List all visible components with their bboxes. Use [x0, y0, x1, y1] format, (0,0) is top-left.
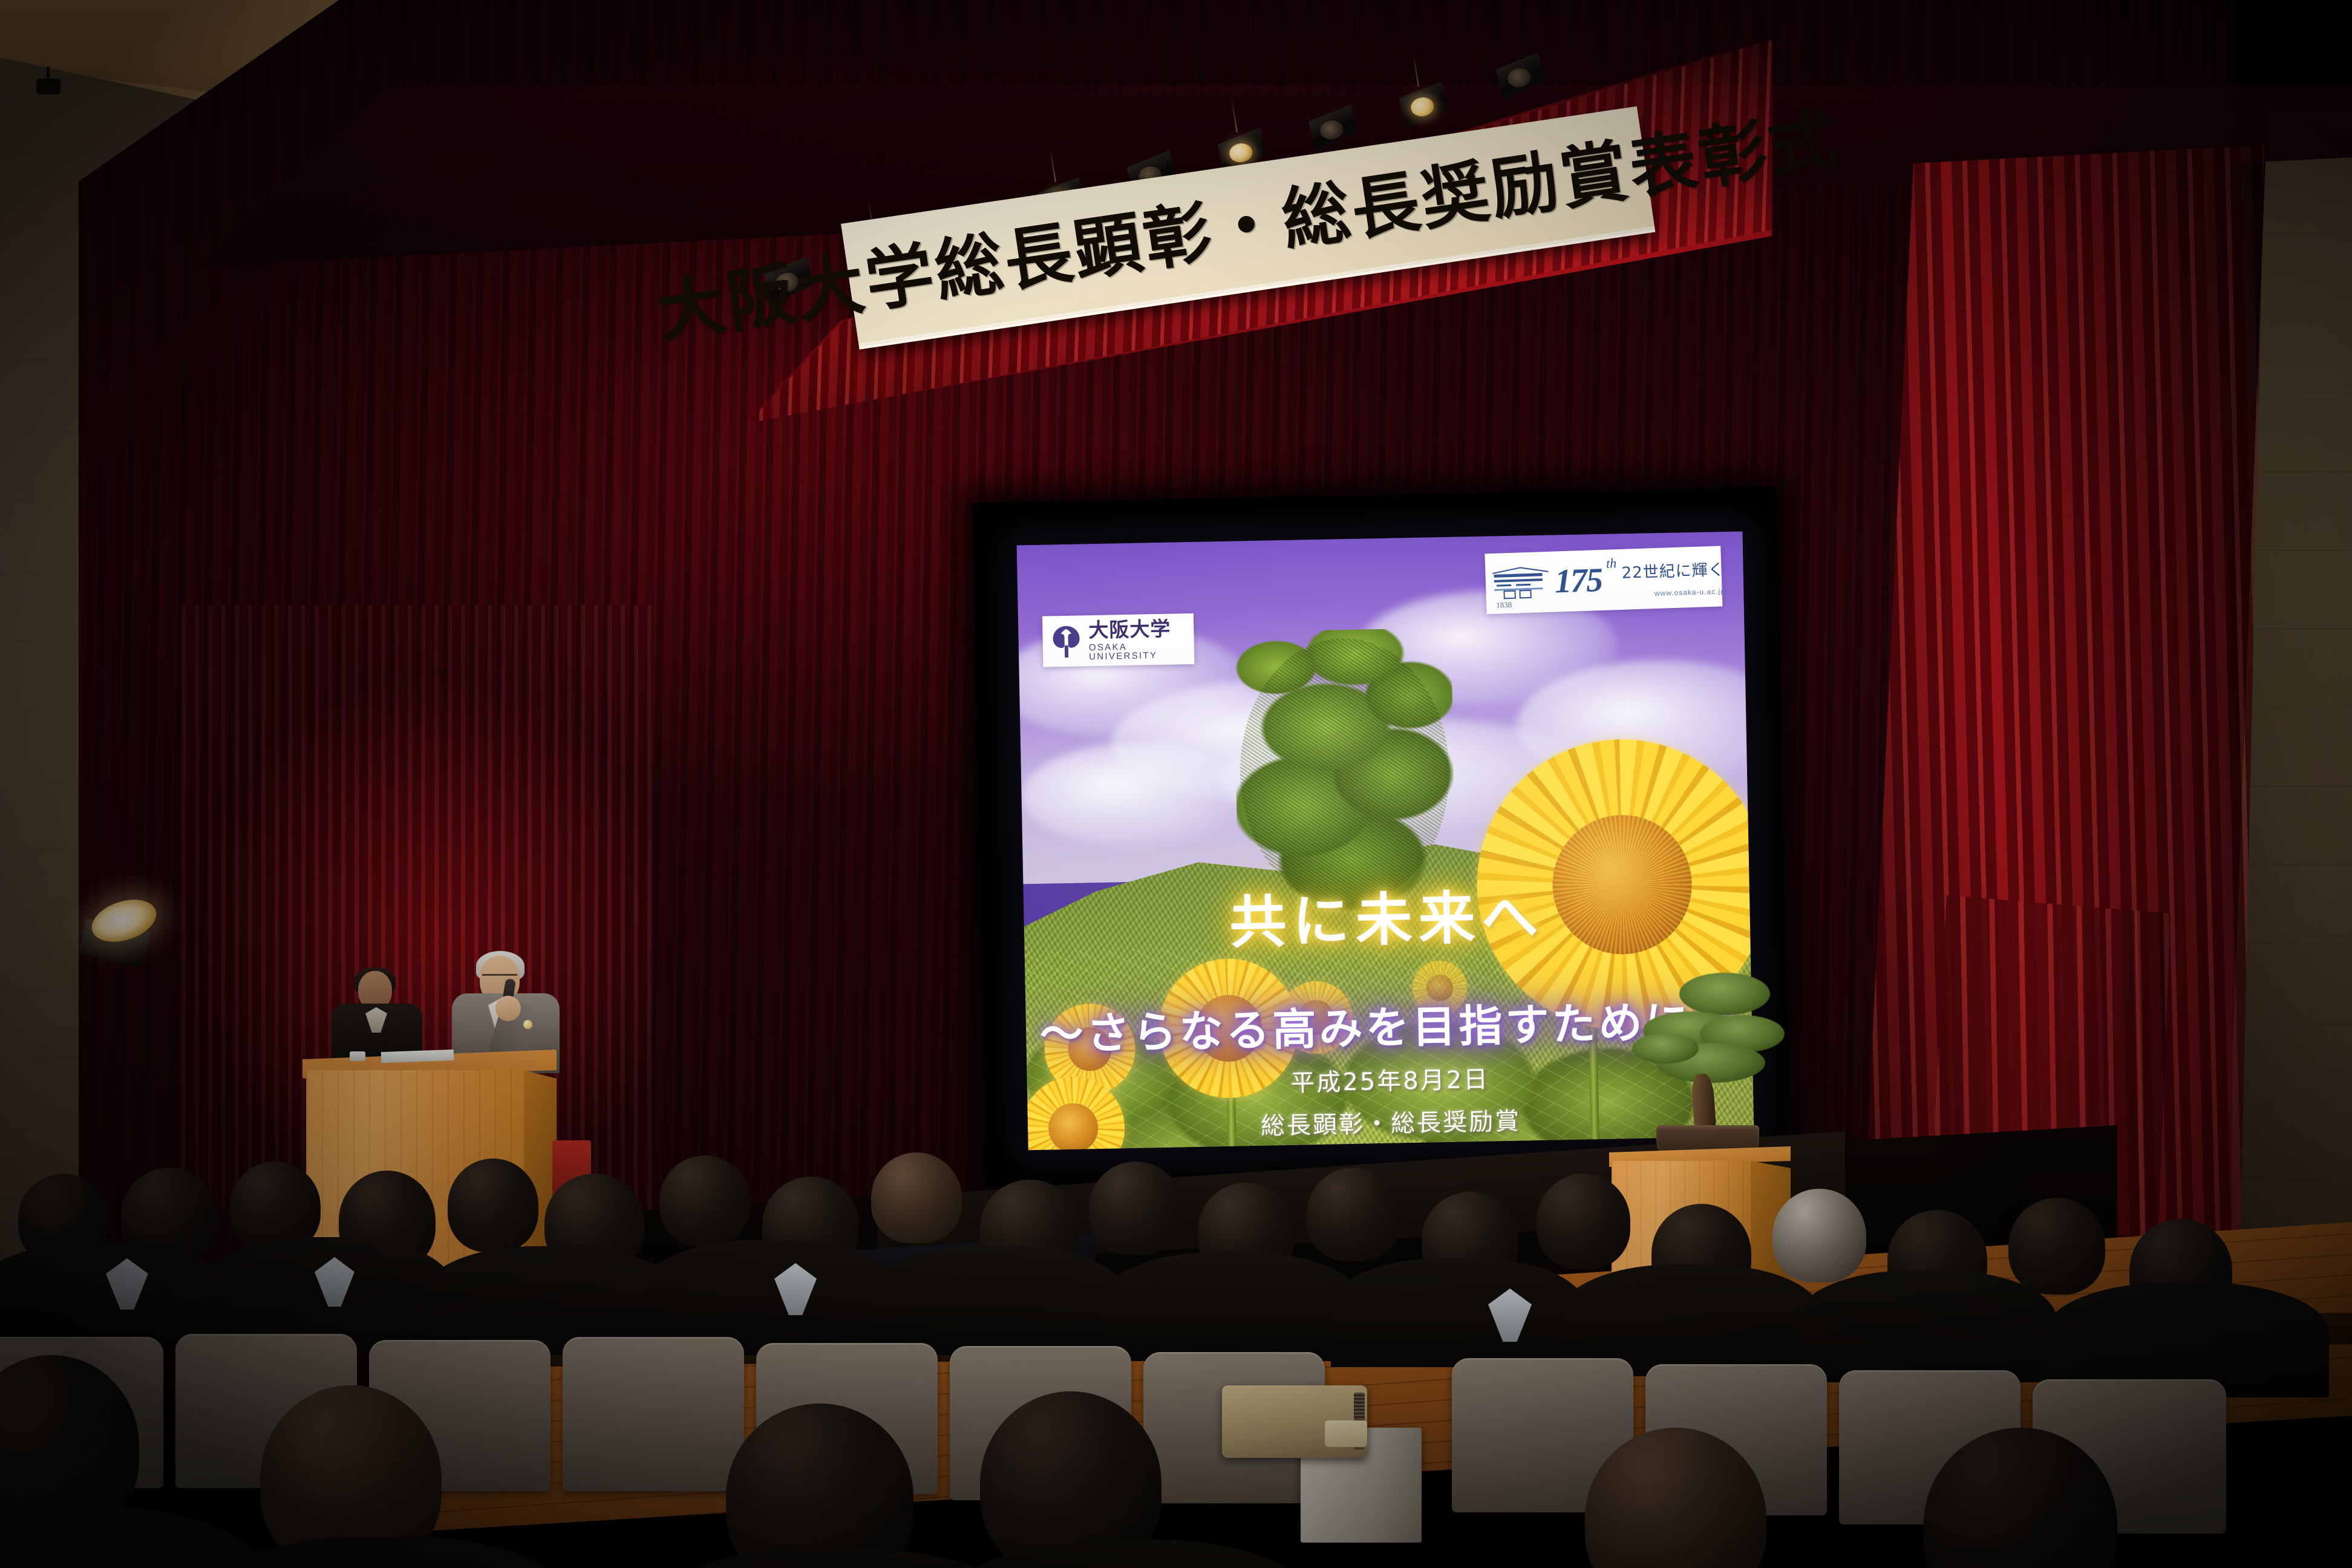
ceiling-speaker-icon	[36, 67, 60, 94]
logo-en-name: OSAKA UNIVERSITY	[1089, 641, 1187, 661]
audience-head	[1537, 1174, 1630, 1269]
audience-shoulders	[1331, 1258, 1585, 1367]
audience-head	[1772, 1189, 1866, 1282]
anniversary-url: www.osaka-u.ac.jp	[1622, 587, 1725, 599]
ginkgo-leaf-icon	[1050, 623, 1083, 659]
audience-area	[0, 1186, 2352, 1568]
audience-shoulders-front	[0, 1506, 266, 1568]
audience-head	[448, 1158, 538, 1252]
audience-head	[871, 1152, 962, 1243]
anniversary-slogan: 22世紀に輝く	[1621, 557, 1725, 583]
audience-head	[659, 1155, 750, 1246]
audience-shoulders	[1797, 1270, 2057, 1382]
anniversary-175-logo: 175 th 22世紀に輝く www.osaka-u.ac.jp 1838	[1485, 546, 1722, 614]
auditorium-scene: 大阪大学総長顕彰・総長奨励賞表彰式	[0, 0, 2352, 1568]
audience-shoulders-front	[641, 1549, 1028, 1568]
stage-lamp-icon	[1491, 52, 1548, 102]
slide-title: 共に未来へ	[1023, 867, 1750, 963]
audience-shoulders	[1101, 1252, 1361, 1361]
anniversary-ordinal: th	[1606, 555, 1617, 572]
audience-shoulders	[871, 1246, 1125, 1355]
osaka-university-logo: 大阪大学 OSAKA UNIVERSITY	[1042, 613, 1195, 667]
av-lens-icon	[1325, 1420, 1367, 1447]
bonsai-pine	[1621, 962, 1797, 1161]
audience-head	[2008, 1198, 2105, 1295]
logo-jp-name: 大阪大学	[1088, 618, 1187, 640]
auditorium-seat[interactable]	[563, 1337, 744, 1491]
anniversary-number: 175	[1554, 565, 1602, 597]
audience-head	[1089, 1161, 1183, 1255]
stage-lamp-icon	[1304, 104, 1361, 154]
lectern-cup	[350, 1051, 365, 1061]
anniversary-established-year: 1838	[1496, 600, 1512, 610]
heritage-building-icon	[1491, 564, 1550, 601]
audience-head	[1307, 1168, 1400, 1261]
lapel-badge-icon	[523, 1020, 532, 1029]
stage-lamp-icon	[1394, 81, 1451, 131]
